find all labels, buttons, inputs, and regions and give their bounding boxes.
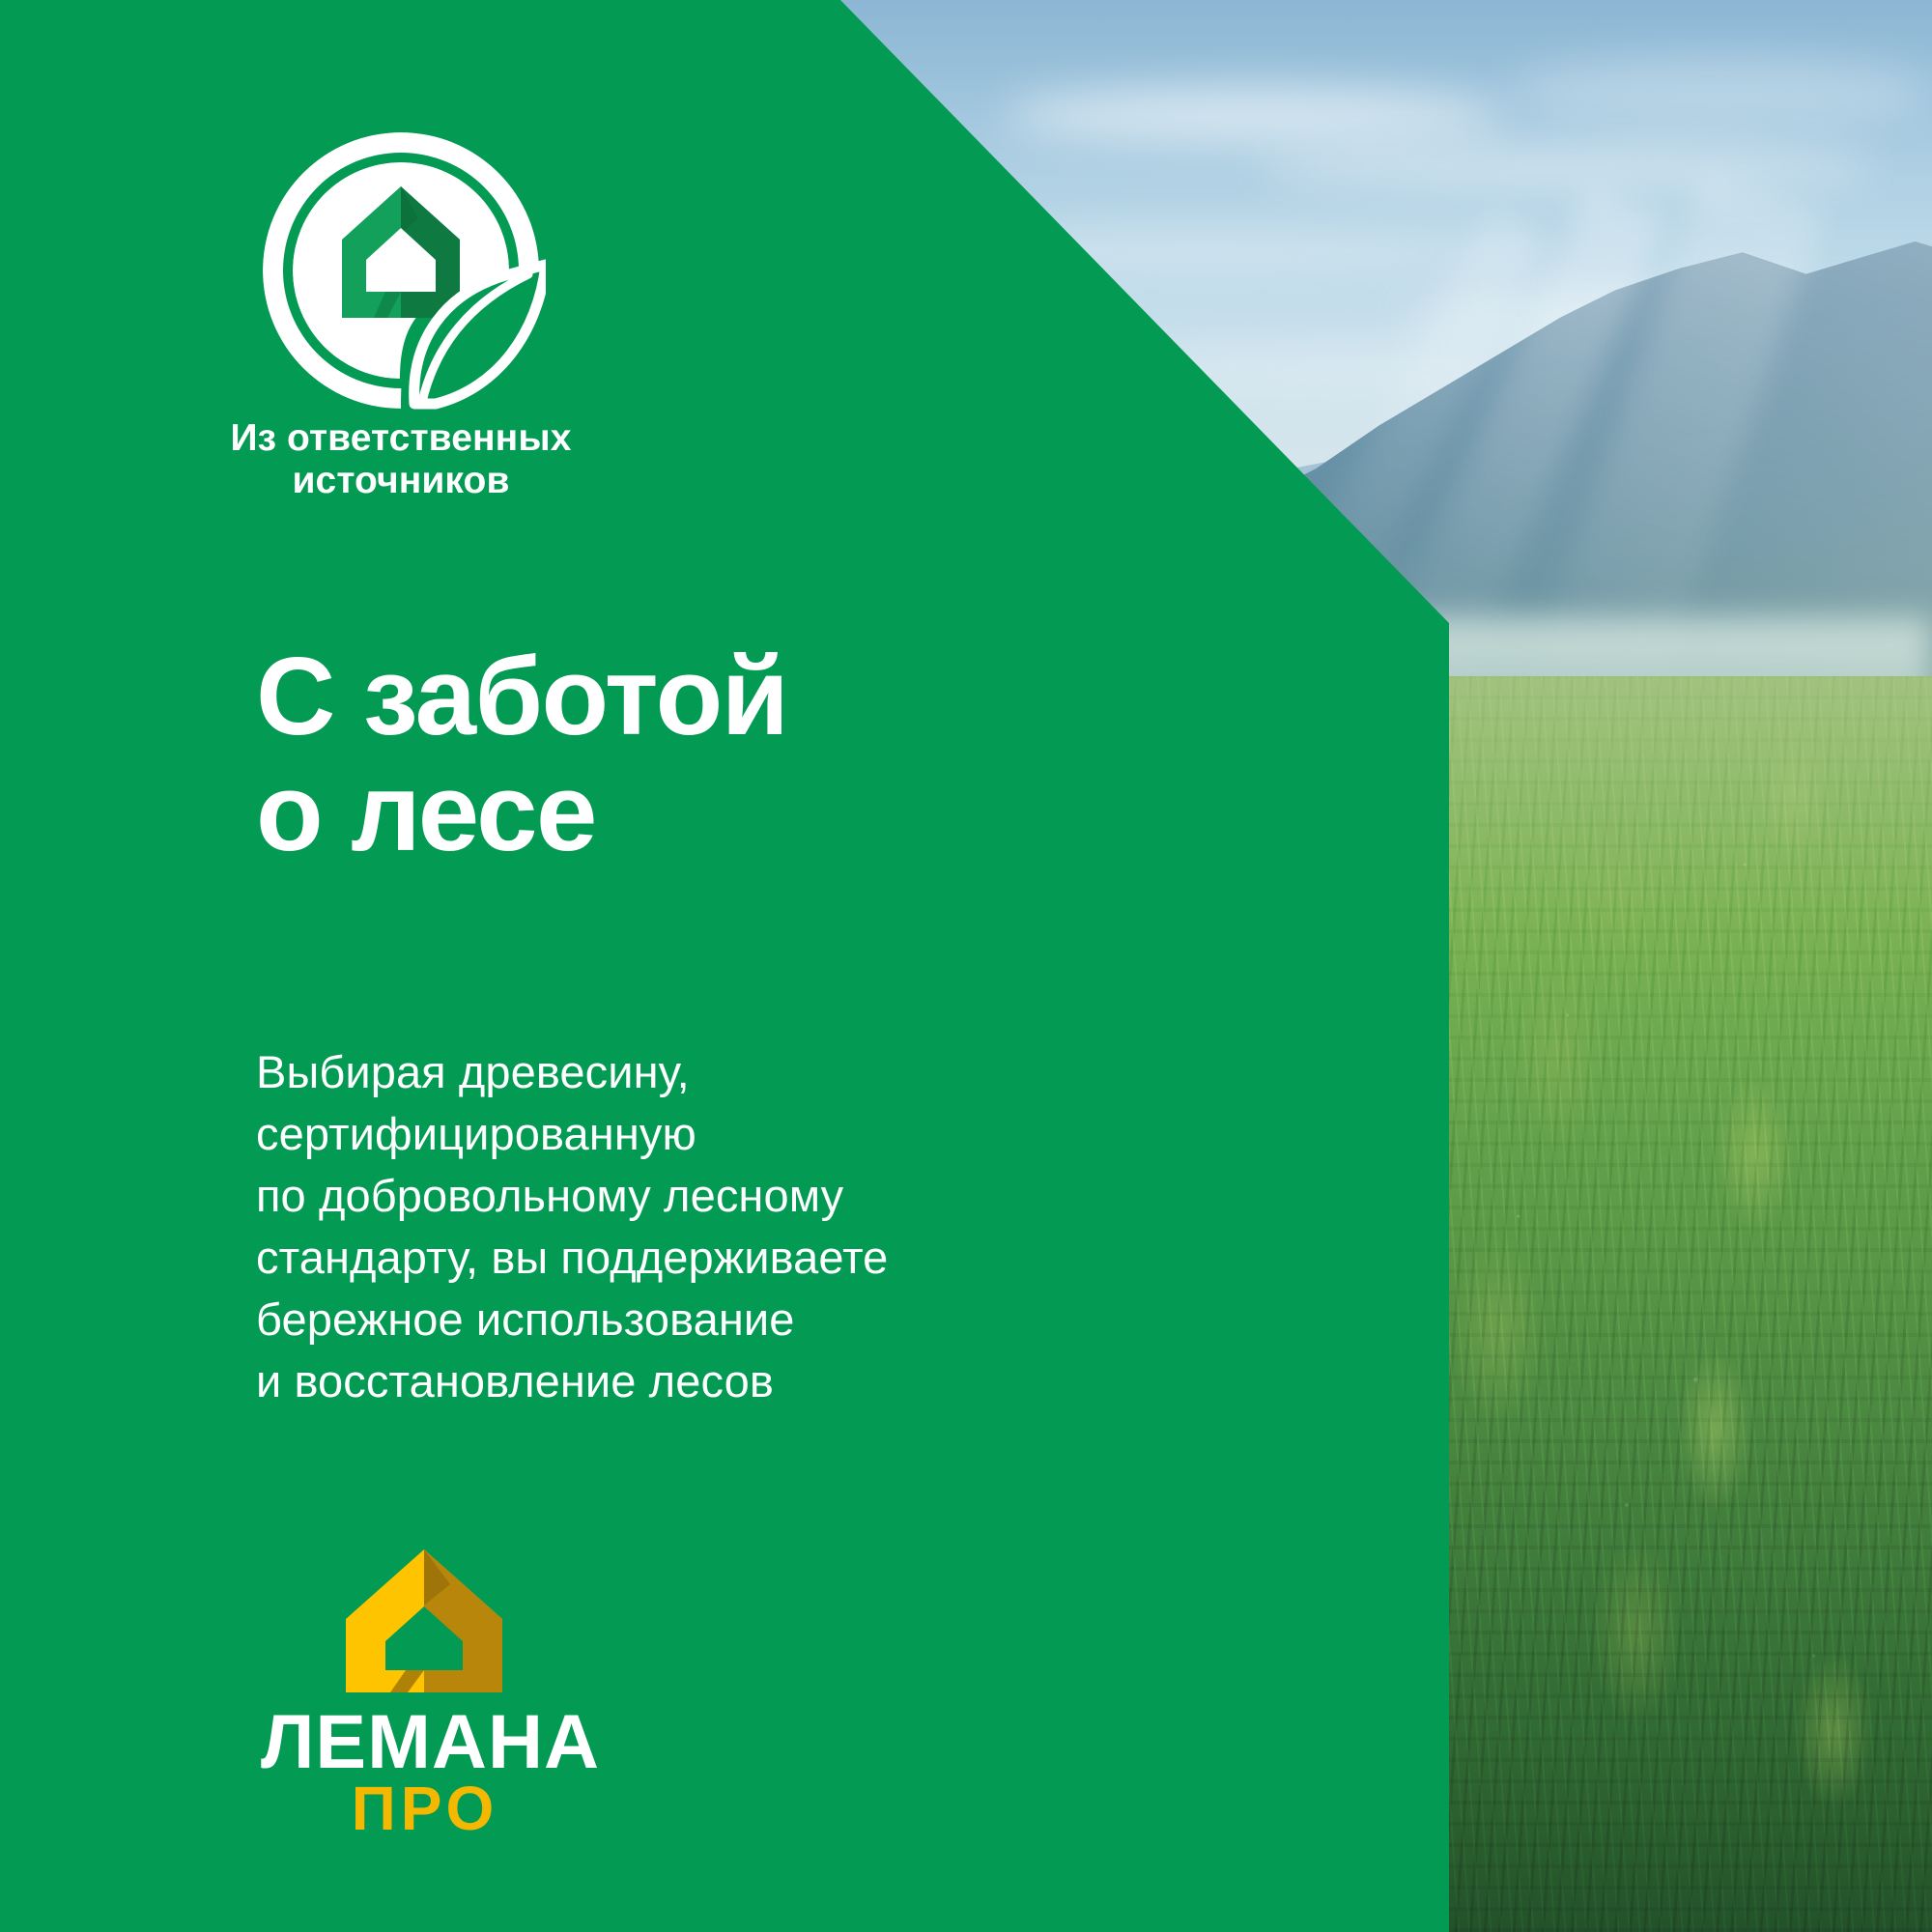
page-title: С заботой о лесе — [256, 639, 1125, 870]
eco-house-leaf-circle-icon — [256, 126, 546, 415]
brand-suffix: ПРО — [261, 1777, 589, 1839]
lemana-house-icon — [342, 1546, 506, 1695]
poster-content: Из ответственных источников С заботой о … — [0, 0, 1932, 1932]
lemana-pro-logo: ЛЕМАНА ПРО — [261, 1546, 589, 1845]
brand-name: ЛЕМАНА — [261, 1703, 589, 1779]
body-paragraph: Выбирая древесину, сертифицированную по … — [256, 1041, 1048, 1411]
eco-badge-caption: Из ответственных источников — [193, 417, 609, 503]
